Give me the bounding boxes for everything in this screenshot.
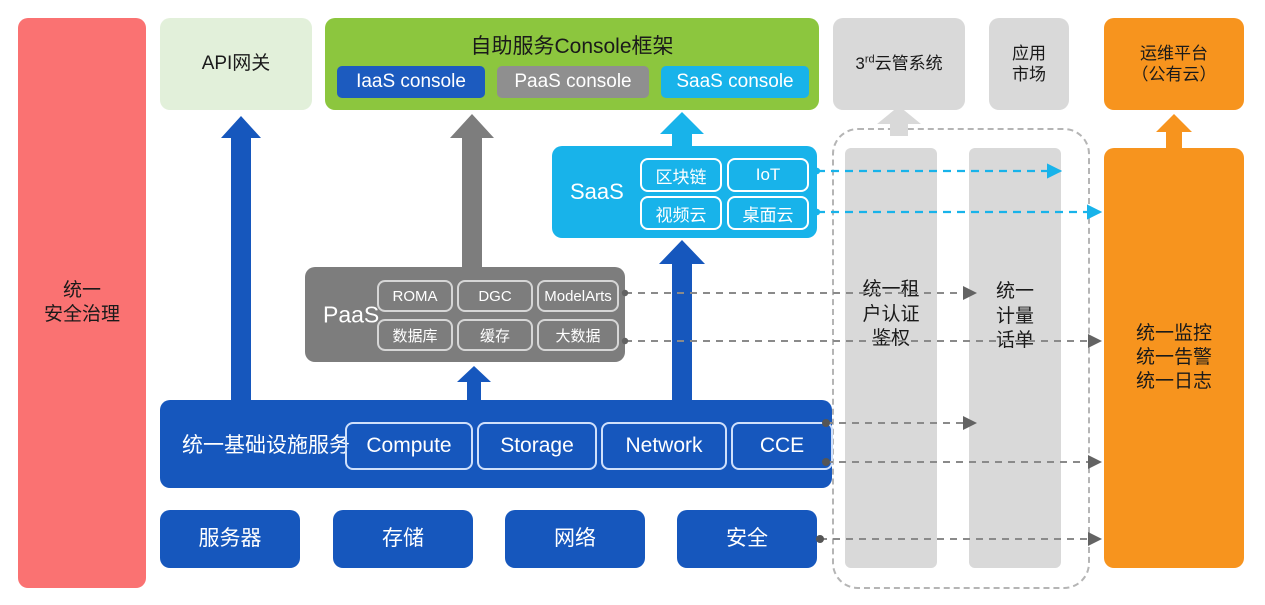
saas-item-blockchain-label: 区块链 — [656, 163, 707, 188]
console-framework-panel: 自助服务Console框架 IaaS console PaaS console … — [325, 18, 819, 110]
paas-console-label: PaaS console — [514, 71, 631, 93]
security-governance-column: 统一 安全治理 — [18, 18, 146, 588]
shared-service-column-auth — [845, 148, 937, 568]
paas-item-roma[interactable]: ROMA — [377, 280, 453, 312]
paas-item-dgc-label: DGC — [478, 288, 511, 305]
paas-item-cache[interactable]: 缓存 — [457, 319, 533, 351]
app-market-line-2: 市场 — [1012, 64, 1046, 85]
arrow-paas-to-console — [450, 114, 494, 267]
third-party-label: 3rd云管系统 — [855, 53, 942, 74]
infra-item-cce-label: CCE — [760, 434, 804, 458]
hardware-network-label: 网络 — [554, 526, 596, 552]
paas-item-bigdata-label: 大数据 — [555, 325, 600, 346]
saas-panel: SaaS 区块链 IoT 视频云 桌面云 — [552, 146, 817, 238]
infra-item-cce[interactable]: CCE — [731, 422, 833, 470]
infra-item-network-label: Network — [625, 434, 702, 458]
ops-col-line-1: 统一监控 — [1136, 322, 1212, 346]
infra-item-compute-label: Compute — [366, 434, 451, 458]
security-line-2: 安全治理 — [44, 303, 120, 327]
auth-line-2: 户认证 — [845, 303, 937, 328]
saas-console-chip[interactable]: SaaS console — [661, 66, 809, 98]
third-party-suffix-ordinal: rd — [865, 54, 875, 66]
ops-col-line-2: 统一告警 — [1136, 346, 1212, 370]
arrow-ops-column-to-ops-platform — [1156, 114, 1192, 148]
paas-item-bigdata[interactable]: 大数据 — [537, 319, 619, 351]
ops-platform-line-2: （公有云） — [1132, 64, 1217, 85]
iaas-console-chip[interactable]: IaaS console — [337, 66, 485, 98]
saas-item-iot[interactable]: IoT — [727, 158, 809, 192]
saas-item-desktop-cloud[interactable]: 桌面云 — [727, 196, 809, 230]
hardware-server-box[interactable]: 服务器 — [160, 510, 300, 568]
infrastructure-label: 统一基础设施服务 — [182, 429, 350, 459]
paas-console-chip[interactable]: PaaS console — [497, 66, 649, 98]
third-party-prefix: 3 — [855, 54, 864, 73]
architecture-diagram: 统一 安全治理 API网关 自助服务Console框架 IaaS console… — [0, 0, 1265, 605]
saas-panel-label: SaaS — [570, 179, 624, 205]
third-party-suffix: 云管系统 — [875, 54, 943, 73]
app-market-line-1: 应用 — [1012, 43, 1046, 64]
arrow-saas-to-saas-console — [660, 112, 704, 146]
ops-platform-public-cloud-box: 运维平台 （公有云） — [1104, 18, 1244, 110]
infra-item-storage[interactable]: Storage — [477, 422, 597, 470]
shared-service-metering-label: 统一 计量 话单 — [969, 280, 1061, 354]
paas-item-modelarts-label: ModelArts — [544, 288, 612, 305]
hardware-storage-box[interactable]: 存储 — [333, 510, 473, 568]
auth-line-1: 统一租 — [845, 278, 937, 303]
ops-col-line-3: 统一日志 — [1136, 370, 1212, 394]
shared-service-column-metering — [969, 148, 1061, 568]
infra-item-storage-label: Storage — [500, 434, 574, 458]
ops-platform-line-1: 运维平台 — [1140, 43, 1208, 64]
third-party-cloud-mgmt-box: 3rd云管系统 — [833, 18, 965, 110]
console-framework-title: 自助服务Console框架 — [325, 30, 819, 60]
arrow-infra-to-paas — [457, 366, 491, 400]
metering-line-1: 统一 — [969, 280, 1061, 305]
iaas-console-label: IaaS console — [356, 71, 466, 93]
unified-infrastructure-panel: 统一基础设施服务 Compute Storage Network CCE — [160, 400, 832, 488]
infra-item-network[interactable]: Network — [601, 422, 727, 470]
saas-item-video-cloud-label: 视频云 — [656, 201, 707, 226]
hardware-security-box[interactable]: 安全 — [677, 510, 817, 568]
hardware-server-label: 服务器 — [199, 526, 262, 552]
app-market-box: 应用 市场 — [989, 18, 1069, 110]
hardware-storage-label: 存储 — [382, 526, 424, 552]
metering-line-3: 话单 — [969, 329, 1061, 354]
metering-line-2: 计量 — [969, 305, 1061, 330]
paas-item-modelarts[interactable]: ModelArts — [537, 280, 619, 312]
api-gateway-box: API网关 — [160, 18, 312, 110]
shared-service-auth-label: 统一租 户认证 鉴权 — [845, 278, 937, 352]
paas-panel-label: PaaS — [323, 301, 379, 328]
saas-item-iot-label: IoT — [756, 165, 781, 185]
saas-item-blockchain[interactable]: 区块链 — [640, 158, 722, 192]
paas-item-cache-label: 缓存 — [480, 325, 510, 346]
api-gateway-label: API网关 — [202, 52, 271, 76]
auth-line-3: 鉴权 — [845, 327, 937, 352]
arrow-infra-to-saas — [659, 240, 705, 400]
saas-item-desktop-cloud-label: 桌面云 — [743, 201, 794, 226]
arrow-infra-to-api-gateway — [221, 116, 261, 400]
hardware-security-label: 安全 — [726, 526, 768, 552]
ops-monitoring-column: 统一监控 统一告警 统一日志 — [1104, 148, 1244, 568]
paas-item-roma-label: ROMA — [393, 288, 438, 305]
saas-item-video-cloud[interactable]: 视频云 — [640, 196, 722, 230]
paas-item-dgc[interactable]: DGC — [457, 280, 533, 312]
saas-console-label: SaaS console — [676, 71, 793, 93]
hardware-network-box[interactable]: 网络 — [505, 510, 645, 568]
paas-item-database[interactable]: 数据库 — [377, 319, 453, 351]
paas-item-database-label: 数据库 — [392, 325, 437, 346]
security-line-1: 统一 — [63, 279, 101, 303]
infra-item-compute[interactable]: Compute — [345, 422, 473, 470]
paas-panel: PaaS ROMA DGC ModelArts 数据库 缓存 大数据 — [305, 267, 625, 362]
